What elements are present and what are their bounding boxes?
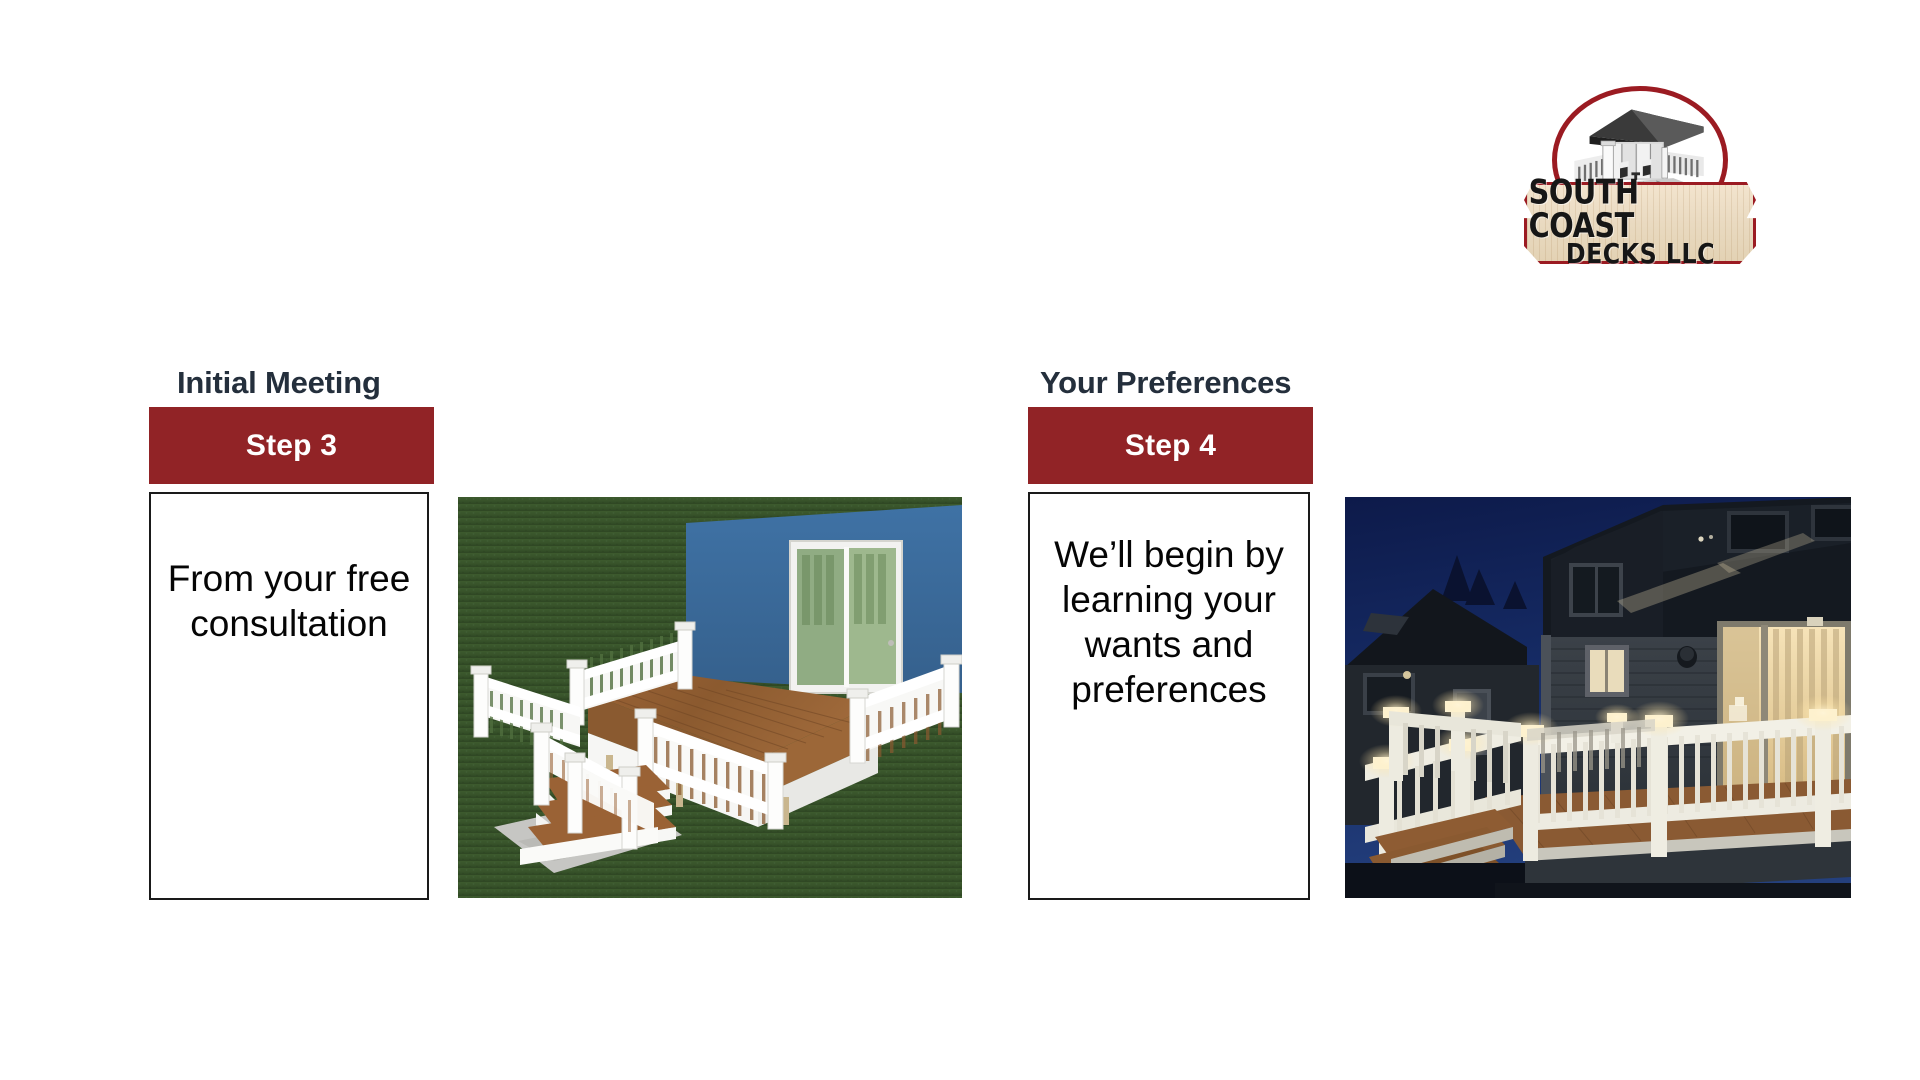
logo-company-name: SOUTH COAST	[1529, 176, 1752, 243]
step-4-body-text: We’ll begin by learning your wants and p…	[1030, 532, 1308, 713]
step-4-body-card: We’ll begin by learning your wants and p…	[1028, 492, 1310, 900]
south-coast-decks-logo: SOUTH COAST DECKS LLC	[1524, 86, 1756, 266]
step-4-badge-label: Step 4	[1125, 429, 1216, 463]
slide-canvas: SOUTH COAST DECKS LLC Initial Meeting St…	[0, 0, 1920, 1080]
step-4-night-deck-photo	[1345, 497, 1851, 898]
step-3-heading: Initial Meeting	[177, 365, 381, 401]
step-3-body-text: From your free consultation	[151, 556, 427, 646]
step-3-badge: Step 3	[149, 407, 434, 484]
step-3-badge-label: Step 3	[246, 429, 337, 463]
step-3-body-card: From your free consultation	[149, 492, 429, 900]
logo-wordmark-banner: SOUTH COAST DECKS LLC	[1524, 182, 1756, 264]
step-4-heading: Your Preferences	[1040, 365, 1291, 401]
step-4-badge: Step 4	[1028, 407, 1313, 484]
logo-company-suffix: DECKS LLC	[1565, 240, 1714, 268]
step-3-deck-rendering-image	[458, 497, 962, 898]
